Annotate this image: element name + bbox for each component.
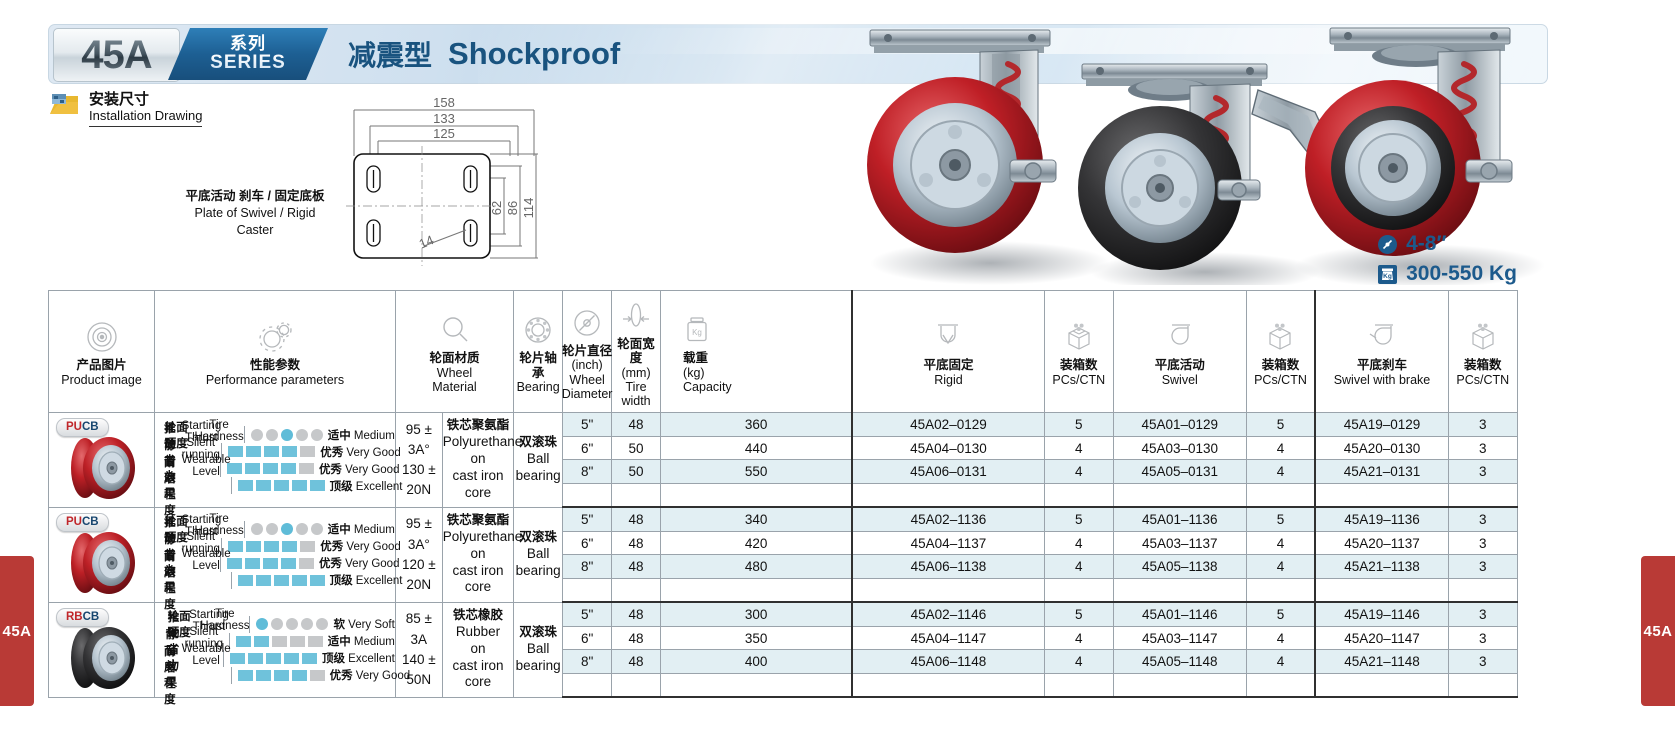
dim-114: 114 bbox=[521, 198, 536, 219]
rating-square bbox=[282, 446, 297, 457]
product-image-cell: PUCB bbox=[49, 507, 155, 602]
rating-square bbox=[254, 636, 269, 647]
rating-square bbox=[284, 653, 299, 664]
wheel-diameter-value bbox=[563, 673, 612, 697]
series-code-chip: 45A bbox=[53, 28, 180, 82]
swivel-pcs-ctn bbox=[1246, 483, 1315, 507]
performance-label: 耐磨程度Wearable Level bbox=[155, 548, 231, 612]
header-label-en: Wheel Material bbox=[429, 366, 479, 395]
brake-pcs-ctn: 3 bbox=[1448, 531, 1517, 555]
brake-part-number: 45A19–1136 bbox=[1315, 507, 1448, 531]
header-rigid: 平底固定 Rigid bbox=[852, 291, 1044, 413]
performance-value: 优秀 Very Good bbox=[315, 444, 401, 460]
swivel-pcs-ctn: 4 bbox=[1246, 436, 1315, 460]
brake-pcs-ctn: 3 bbox=[1448, 436, 1517, 460]
installation-drawing-text: 安装尺寸 Installation Drawing bbox=[89, 92, 202, 127]
rating-square bbox=[300, 541, 315, 552]
performance-row: 耐磨程度Wearable Level 顶级 Excellent bbox=[155, 572, 395, 589]
carton-box-icon bbox=[1468, 320, 1498, 354]
rating-dot bbox=[301, 618, 313, 630]
bearing-cn: 双滚珠 bbox=[514, 530, 562, 546]
header-wheel-diameter: 轮片直径 (inch) Wheel Diameter bbox=[563, 291, 612, 413]
swivel-part-number: 45A05–1148 bbox=[1113, 650, 1246, 674]
hardness-value: 85 ± 3A bbox=[396, 609, 442, 650]
header-label-en: Bearing bbox=[516, 380, 560, 394]
dim-62: 62 bbox=[489, 201, 504, 215]
hardness-value: 95 ± 3A° bbox=[396, 514, 442, 555]
capacity-value: 340 bbox=[661, 507, 853, 531]
performance-value: 优秀 Very Good bbox=[325, 667, 411, 683]
series-wedge: 系列 SERIES bbox=[168, 28, 328, 80]
swivel-pcs-ctn: 5 bbox=[1246, 413, 1315, 437]
performance-value: 适中 Medium bbox=[323, 427, 395, 443]
swivel-pcs-ctn: 4 bbox=[1246, 531, 1315, 555]
rigid-pcs-ctn: 4 bbox=[1044, 436, 1113, 460]
installation-title-en: Installation Drawing bbox=[89, 109, 202, 127]
photo-rigid-caster bbox=[867, 30, 1056, 253]
wheel-diameter-value: 8" bbox=[563, 650, 612, 674]
capacity-value: 400 bbox=[661, 650, 853, 674]
brake-pcs-ctn: 3 bbox=[1448, 460, 1517, 484]
header-label-cn: 产品图片 bbox=[61, 358, 142, 372]
rigid-part-number bbox=[852, 673, 1044, 697]
spec-capacity-row: Kg 300-550 Kg bbox=[1378, 262, 1517, 286]
product-image-cell: RBCB bbox=[49, 602, 155, 697]
capacity-value: 420 bbox=[661, 531, 853, 555]
rating-square bbox=[264, 446, 279, 457]
rigid-pcs-ctn: 4 bbox=[1044, 531, 1113, 555]
rating-dot bbox=[311, 523, 323, 535]
rating-square bbox=[274, 670, 289, 681]
header-wheel-material: 轮面材质 Wheel Material bbox=[395, 291, 513, 413]
swivel-caster-icon bbox=[1166, 320, 1194, 354]
header-performance: 性能参数 Performance parameters bbox=[155, 291, 396, 413]
rating-square bbox=[248, 653, 263, 664]
rigid-part-number: 45A06–1138 bbox=[852, 555, 1044, 579]
wheel-diameter-value: 6" bbox=[563, 436, 612, 460]
tire-width-value: 48 bbox=[612, 626, 661, 650]
gears-icon bbox=[256, 320, 294, 354]
swivel-pcs-ctn: 4 bbox=[1246, 555, 1315, 579]
capacity-value: 550 bbox=[661, 460, 853, 484]
brake-part-number: 45A20–1147 bbox=[1315, 626, 1448, 650]
thrust-value: 130 ± 20N bbox=[396, 460, 442, 501]
header-product-image: 产品图片 Product image bbox=[49, 291, 155, 413]
rating-square bbox=[263, 463, 278, 474]
brake-part-number: 45A21–1148 bbox=[1315, 650, 1448, 674]
plate-caption-cn: 平底活动 刹车 / 固定底板 bbox=[175, 188, 335, 205]
rating-square bbox=[263, 558, 278, 569]
rating-square bbox=[230, 653, 245, 664]
rating-square bbox=[266, 653, 281, 664]
rating-dot bbox=[251, 523, 263, 535]
rating-square bbox=[246, 541, 261, 552]
spec-capacity-value: 300-550 Kg bbox=[1406, 262, 1517, 286]
dim-158: 158 bbox=[433, 95, 455, 110]
product-specification-table: 产品图片 Product image 性能参数 Performance para… bbox=[48, 290, 1518, 698]
rating-square bbox=[238, 670, 253, 681]
carton-box-icon bbox=[1064, 320, 1094, 354]
rigid-part-number: 45A06–1148 bbox=[852, 650, 1044, 674]
rating-square bbox=[282, 541, 297, 552]
tire-width-value: 48 bbox=[612, 531, 661, 555]
installation-title-cn: 安装尺寸 bbox=[89, 92, 202, 109]
wheel-diameter-value: 6" bbox=[563, 626, 612, 650]
performance-value: 适中 Medium bbox=[323, 521, 395, 537]
header-label-cn: 平底活动 bbox=[1155, 358, 1205, 372]
swivel-pcs-ctn: 4 bbox=[1246, 460, 1315, 484]
rating-dot bbox=[251, 429, 263, 441]
tire-width-icon bbox=[621, 299, 651, 333]
load-capacity-icon: Kg bbox=[1378, 265, 1397, 284]
series-code: 45A bbox=[81, 33, 151, 78]
material-badge-secondary: CB bbox=[82, 516, 99, 528]
brake-pcs-ctn: 3 bbox=[1448, 555, 1517, 579]
rating-square bbox=[256, 575, 271, 586]
tire-width-value: 48 bbox=[612, 507, 661, 531]
performance-meter bbox=[231, 667, 325, 684]
rating-square bbox=[274, 575, 289, 586]
tire-width-value: 48 bbox=[612, 650, 661, 674]
material-badge-secondary: CB bbox=[82, 421, 99, 433]
swivel-part-number bbox=[1113, 578, 1246, 602]
rigid-part-number: 45A02–0129 bbox=[852, 413, 1044, 437]
performance-label: 耐磨程度Wearable Level bbox=[155, 454, 231, 518]
header-label-en: PCs/CTN bbox=[1456, 373, 1509, 387]
bearing-en: Ball bearing bbox=[514, 641, 562, 675]
header-label-en: PCs/CTN bbox=[1254, 373, 1307, 387]
series-label-cn: 系列 bbox=[230, 35, 266, 53]
header-label-cn: 性能参数 bbox=[206, 358, 344, 372]
rigid-pcs-ctn: 4 bbox=[1044, 555, 1113, 579]
brake-part-number: 45A21–0131 bbox=[1315, 460, 1448, 484]
spec-diameter-row: 4-8″ bbox=[1378, 232, 1517, 256]
header-swivel: 平底活动 Swivel bbox=[1113, 291, 1246, 413]
rigid-part-number: 45A04–1147 bbox=[852, 626, 1044, 650]
table-header-row: 产品图片 Product image 性能参数 Performance para… bbox=[49, 291, 1518, 413]
wheel-diameter-value bbox=[563, 483, 612, 507]
material-en: Polyurethane on cast iron core bbox=[443, 529, 513, 597]
tire-width-value: 50 bbox=[612, 436, 661, 460]
table-body: PUCB 轮面硬度Tire Hardness 适中 Medium bbox=[49, 413, 1518, 698]
capacity-value bbox=[661, 673, 853, 697]
rating-square bbox=[264, 541, 279, 552]
side-tab-right-label: 45A bbox=[1643, 623, 1672, 640]
wheel-diameter-value: 5" bbox=[563, 413, 612, 437]
header-label-en: Performance parameters bbox=[206, 373, 344, 387]
material-cn: 铁芯聚氨酯 bbox=[443, 513, 513, 529]
brake-part-number: 45A20–0130 bbox=[1315, 436, 1448, 460]
rigid-pcs-ctn bbox=[1044, 483, 1113, 507]
material-badge-primary: PU bbox=[66, 516, 82, 528]
series-label-en: SERIES bbox=[210, 53, 286, 73]
dim-133: 133 bbox=[433, 111, 455, 126]
rating-dot bbox=[286, 618, 298, 630]
header-label-cn: 平底固定 bbox=[923, 358, 973, 372]
wheel-material-cell: 铁芯聚氨酯Polyurethane on cast iron core bbox=[442, 413, 513, 508]
bearing-cn: 双滚珠 bbox=[514, 435, 562, 451]
brake-part-number: 45A19–1146 bbox=[1315, 602, 1448, 626]
performance-meter bbox=[244, 426, 323, 443]
magnifier-icon bbox=[439, 313, 471, 347]
rating-square bbox=[238, 575, 253, 586]
spec-summary: 4-8″ Kg 300-550 Kg bbox=[1378, 232, 1517, 286]
dim-86: 86 bbox=[505, 201, 520, 215]
rating-square bbox=[236, 636, 251, 647]
header-label-en: Rigid bbox=[923, 373, 973, 387]
rigid-part-number: 45A04–1137 bbox=[852, 531, 1044, 555]
performance-meter bbox=[220, 460, 314, 477]
plate-caption: 平底活动 刹车 / 固定底板 Plate of Swivel / Rigid C… bbox=[175, 188, 335, 239]
table-row: PUCB 轮面硬度Tire Hardness 适中 Medium bbox=[49, 507, 1518, 531]
material-en: Rubber on cast iron core bbox=[443, 624, 513, 692]
swivel-part-number bbox=[1113, 483, 1246, 507]
bearing-cn: 双滚珠 bbox=[514, 625, 562, 641]
carton-box-icon bbox=[1265, 320, 1295, 354]
page-title-cn: 减震型 bbox=[348, 34, 432, 74]
rating-square bbox=[246, 446, 261, 457]
bearing-cell: 双滚珠Ball bearing bbox=[514, 413, 563, 508]
header-swivel-ctn: 装箱数 PCs/CTN bbox=[1246, 291, 1315, 413]
material-cn: 铁芯橡胶 bbox=[443, 608, 513, 624]
wheel-diameter-value bbox=[563, 578, 612, 602]
rigid-pcs-ctn: 5 bbox=[1044, 413, 1113, 437]
page-title: 减震型 Shockproof bbox=[348, 24, 620, 84]
plate-caption-en: Plate of Swivel / Rigid Caster bbox=[175, 205, 335, 239]
brake-pcs-ctn bbox=[1448, 673, 1517, 697]
rating-dot bbox=[281, 429, 293, 441]
header-label-cn: 轮面宽度 bbox=[614, 337, 658, 366]
rigid-part-number bbox=[852, 578, 1044, 602]
brake-pcs-ctn: 3 bbox=[1448, 626, 1517, 650]
brake-part-number: 45A21–1138 bbox=[1315, 555, 1448, 579]
header-bearing: 轮片轴承 Bearing bbox=[514, 291, 563, 413]
material-badge-primary: PU bbox=[66, 421, 82, 433]
wheel-diameter-value: 6" bbox=[563, 531, 612, 555]
swivel-part-number: 45A03–1147 bbox=[1113, 626, 1246, 650]
diameter-icon bbox=[572, 306, 602, 340]
red-pu-wheel bbox=[65, 435, 139, 501]
side-tab-right: 45A bbox=[1641, 556, 1675, 706]
brake-part-number: 45A20–1137 bbox=[1315, 531, 1448, 555]
wheel-diameter-icon bbox=[1378, 235, 1397, 254]
bearing-en: Ball bearing bbox=[514, 451, 562, 485]
tire-width-value bbox=[612, 673, 661, 697]
rating-square bbox=[292, 575, 307, 586]
wheel-diameter-value: 8" bbox=[563, 555, 612, 579]
rating-square bbox=[300, 446, 315, 457]
brake-pcs-ctn: 3 bbox=[1448, 602, 1517, 626]
svg-text:Kg: Kg bbox=[1383, 273, 1392, 280]
rating-square bbox=[245, 558, 260, 569]
capacity-value bbox=[661, 578, 853, 602]
swivel-part-number: 45A03–1137 bbox=[1113, 531, 1246, 555]
performance-meter bbox=[244, 521, 323, 538]
performance-cell: 轮面硬度Tire Hardness 软 Very Soft 推动省力Starti… bbox=[155, 602, 396, 697]
tire-width-value: 48 bbox=[612, 555, 661, 579]
rating-square bbox=[238, 480, 253, 491]
installation-drawing-icon bbox=[48, 92, 80, 124]
brake-part-number bbox=[1315, 578, 1448, 602]
rigid-part-number: 45A02–1136 bbox=[852, 507, 1044, 531]
rigid-pcs-ctn bbox=[1044, 578, 1113, 602]
hardness-value: 95 ± 3A° bbox=[396, 420, 442, 461]
rating-square bbox=[256, 670, 271, 681]
swivel-part-number: 45A05–0131 bbox=[1113, 460, 1246, 484]
header-brake-ctn: 装箱数 PCs/CTN bbox=[1448, 291, 1517, 413]
rating-square bbox=[308, 636, 323, 647]
header-label-cn: 载重 bbox=[683, 351, 732, 365]
swivel-part-number: 45A01–1146 bbox=[1113, 602, 1246, 626]
capacity-value: 480 bbox=[661, 555, 853, 579]
rigid-pcs-ctn: 5 bbox=[1044, 507, 1113, 531]
performance-meter bbox=[249, 616, 328, 633]
performance-value: 优秀 Very Good bbox=[314, 461, 400, 477]
brake-pcs-ctn bbox=[1448, 483, 1517, 507]
brake-pcs-ctn: 3 bbox=[1448, 507, 1517, 531]
header-label-cn: 轮片直径 bbox=[562, 344, 613, 358]
kg-weight-icon: Kg bbox=[683, 313, 711, 347]
rigid-pcs-ctn: 5 bbox=[1044, 602, 1113, 626]
capacity-value: 300 bbox=[661, 602, 853, 626]
performance-value: 顶级 Excellent bbox=[317, 650, 395, 666]
material-cn: 铁芯聚氨酯 bbox=[443, 418, 513, 434]
brake-pcs-ctn: 3 bbox=[1448, 413, 1517, 437]
rating-square bbox=[299, 463, 314, 474]
product-image-icon bbox=[85, 320, 119, 354]
material-en: Polyurethane on cast iron core bbox=[443, 434, 513, 502]
rating-dot bbox=[256, 618, 268, 630]
rating-square bbox=[256, 480, 271, 491]
header-label-en: (inch) Wheel Diameter bbox=[562, 358, 613, 401]
rating-dot bbox=[281, 523, 293, 535]
header-label-cn: 轮片轴承 bbox=[516, 351, 560, 380]
performance-meter bbox=[221, 443, 315, 460]
swivel-part-number bbox=[1113, 673, 1246, 697]
performance-value: 软 Very Soft bbox=[328, 616, 394, 632]
table-row: RBCB 轮面硬度Tire Hardness 软 Very Soft bbox=[49, 602, 1518, 626]
performance-meter bbox=[229, 633, 323, 650]
swivel-pcs-ctn: 5 bbox=[1246, 507, 1315, 531]
thrust-value: 120 ± 20N bbox=[396, 555, 442, 596]
swivel-part-number: 45A05–1138 bbox=[1113, 555, 1246, 579]
rating-square bbox=[302, 653, 317, 664]
header-label-en: (mm) Tire width bbox=[614, 366, 658, 409]
performance-row: 耐磨程度Wearable Level 顶级 Excellent bbox=[155, 477, 395, 494]
mounting-plate-drawing: 158 133 125 114 86 62 14 bbox=[340, 96, 550, 266]
header-label-en: Product image bbox=[61, 373, 142, 387]
installation-drawing-header: 安装尺寸 Installation Drawing bbox=[48, 92, 202, 127]
black-rubber-wheel bbox=[65, 625, 139, 691]
performance-value: 顶级 Excellent bbox=[325, 478, 403, 494]
spec-diameter-value: 4-8″ bbox=[1406, 232, 1446, 256]
swivel-pcs-ctn bbox=[1246, 673, 1315, 697]
performance-meter bbox=[231, 572, 325, 589]
header-tire-width: 轮面宽度 (mm) Tire width bbox=[612, 291, 661, 413]
header-rigid-ctn: 装箱数 PCs/CTN bbox=[1044, 291, 1113, 413]
table-row: PUCB 轮面硬度Tire Hardness 适中 Medium bbox=[49, 413, 1518, 437]
header-label-en: (kg) Capacity bbox=[683, 366, 732, 395]
capacity-value: 440 bbox=[661, 436, 853, 460]
tire-width-value bbox=[612, 483, 661, 507]
swivel-pcs-ctn bbox=[1246, 578, 1315, 602]
performance-meter bbox=[220, 555, 314, 572]
capacity-value bbox=[661, 483, 853, 507]
rating-square bbox=[245, 463, 260, 474]
material-badge-primary: RB bbox=[66, 611, 83, 623]
brake-pcs-ctn: 3 bbox=[1448, 650, 1517, 674]
rigid-part-number: 45A04–0130 bbox=[852, 436, 1044, 460]
rating-square bbox=[310, 480, 325, 491]
bearing-icon bbox=[523, 313, 553, 347]
swivel-brake-caster-icon bbox=[1367, 320, 1397, 354]
header-label-cn: 轮面材质 bbox=[429, 351, 479, 365]
side-tab-left-label: 45A bbox=[2, 623, 31, 640]
rigid-part-number: 45A06–0131 bbox=[852, 460, 1044, 484]
header-swivel-brake: 平底刹车 Swivel with brake bbox=[1315, 291, 1448, 413]
swivel-part-number: 45A03–0130 bbox=[1113, 436, 1246, 460]
performance-meter bbox=[223, 650, 317, 667]
rating-dot bbox=[266, 429, 278, 441]
capacity-value: 350 bbox=[661, 626, 853, 650]
rating-dot bbox=[311, 429, 323, 441]
dim-125: 125 bbox=[433, 126, 455, 141]
performance-value: 优秀 Very Good bbox=[315, 538, 401, 554]
header-label-cn: 装箱数 bbox=[1052, 358, 1105, 372]
rating-dot bbox=[271, 618, 283, 630]
brake-part-number bbox=[1315, 673, 1448, 697]
header-label-cn: 平底刹车 bbox=[1334, 358, 1431, 372]
performance-cell: 轮面硬度Tire Hardness 适中 Medium 推动省力Starting… bbox=[155, 413, 396, 508]
performance-value: 适中 Medium bbox=[323, 633, 395, 649]
header-capacity: Kg 载重 (kg) Capacity bbox=[661, 291, 853, 413]
header-label-en: PCs/CTN bbox=[1052, 373, 1105, 387]
wheel-diameter-value: 5" bbox=[563, 507, 612, 531]
brake-part-number bbox=[1315, 483, 1448, 507]
rating-dot bbox=[296, 523, 308, 535]
performance-value: 顶级 Excellent bbox=[325, 572, 403, 588]
rating-dot bbox=[296, 429, 308, 441]
rating-square bbox=[281, 558, 296, 569]
brake-part-number: 45A19–0129 bbox=[1315, 413, 1448, 437]
tire-width-value bbox=[612, 578, 661, 602]
rating-square bbox=[290, 636, 305, 647]
product-image-cell: PUCB bbox=[49, 413, 155, 508]
wheel-material-cell: 铁芯聚氨酯Polyurethane on cast iron core bbox=[442, 507, 513, 602]
rating-square bbox=[274, 480, 289, 491]
rating-square bbox=[272, 636, 287, 647]
swivel-pcs-ctn: 4 bbox=[1246, 626, 1315, 650]
rating-square bbox=[310, 575, 325, 586]
material-badge-secondary: CB bbox=[83, 611, 100, 623]
swivel-pcs-ctn: 5 bbox=[1246, 602, 1315, 626]
rigid-part-number bbox=[852, 483, 1044, 507]
rigid-pcs-ctn: 4 bbox=[1044, 460, 1113, 484]
capacity-value: 360 bbox=[661, 413, 853, 437]
rating-dot bbox=[316, 618, 328, 630]
swivel-pcs-ctn: 4 bbox=[1246, 650, 1315, 674]
header-label-en: Swivel bbox=[1155, 373, 1205, 387]
rating-square bbox=[292, 480, 307, 491]
tire-width-value: 50 bbox=[612, 460, 661, 484]
side-tab-left: 45A bbox=[0, 556, 34, 706]
header-label-en: Swivel with brake bbox=[1334, 373, 1431, 387]
header-label-cn: 装箱数 bbox=[1456, 358, 1509, 372]
header-label-cn: 装箱数 bbox=[1254, 358, 1307, 372]
performance-cell: 轮面硬度Tire Hardness 适中 Medium 推动省力Starting… bbox=[155, 507, 396, 602]
swivel-part-number: 45A01–0129 bbox=[1113, 413, 1246, 437]
rating-square bbox=[310, 670, 325, 681]
